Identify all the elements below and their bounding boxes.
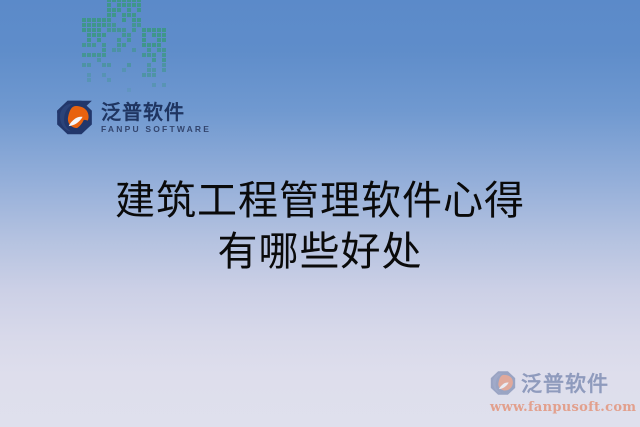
watermark-url: www.fanpusoft.com bbox=[490, 400, 628, 415]
page-title-line-1: 建筑工程管理软件心得 bbox=[0, 176, 640, 227]
page-title: 建筑工程管理软件心得 有哪些好处 bbox=[0, 176, 640, 278]
pixel-buildings-graphic bbox=[80, 14, 166, 102]
brand-name-en: FANPU SOFTWARE bbox=[101, 125, 211, 134]
slide-canvas: 泛普软件 FANPU SOFTWARE 建筑工程管理软件心得 有哪些好处 泛普软… bbox=[0, 0, 640, 427]
brand-wordmark: 泛普软件 FANPU SOFTWARE bbox=[101, 102, 211, 134]
watermark-name-cn: 泛普软件 bbox=[521, 368, 609, 398]
page-title-line-2: 有哪些好处 bbox=[0, 227, 640, 278]
fanpu-hexagon-logo-icon bbox=[56, 99, 93, 136]
pixel-tower-left bbox=[82, 18, 106, 102]
watermark-row: 泛普软件 bbox=[490, 368, 628, 398]
brand-lockup: 泛普软件 FANPU SOFTWARE bbox=[56, 99, 211, 136]
pixel-tower-center bbox=[107, 0, 141, 102]
fanpu-hexagon-logo-watermark-icon bbox=[490, 370, 516, 396]
brand-name-cn: 泛普软件 bbox=[101, 102, 211, 122]
pixel-tower-right bbox=[142, 28, 166, 102]
watermark: 泛普软件 www.fanpusoft.com bbox=[490, 368, 628, 415]
